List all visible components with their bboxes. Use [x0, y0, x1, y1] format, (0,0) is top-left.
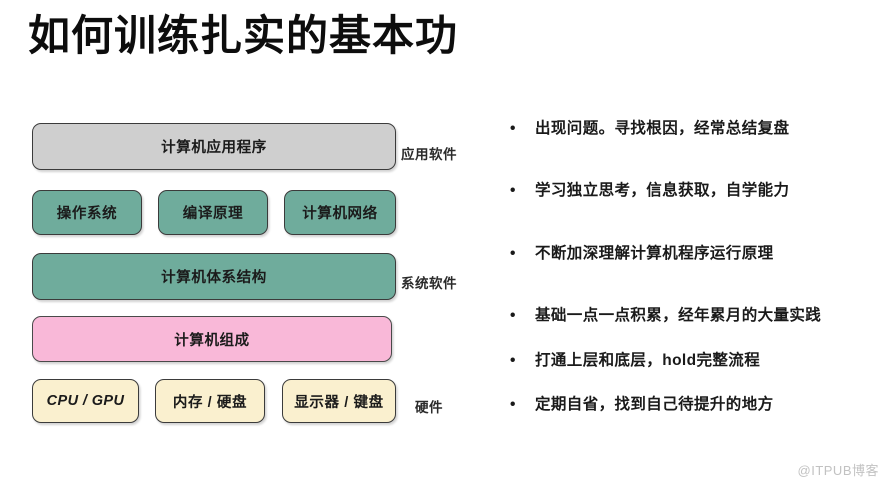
list-item-text: 不断加深理解计算机程序运行原理 [535, 245, 774, 262]
stack-box-memory-disk[interactable]: 内存 / 硬盘 [155, 379, 265, 423]
stack-box-computer-network[interactable]: 计算机网络 [284, 190, 396, 235]
list-item-text: 出现问题。寻找根因，经常总结复盘 [535, 120, 789, 137]
bullet-marker-icon: • [510, 118, 516, 140]
list-item-text: 定期自省，找到自己待提升的地方 [535, 396, 774, 413]
stack-side-label-system-software: 系统软件 [401, 272, 457, 292]
bullet-marker-icon: • [510, 243, 516, 265]
list-item-text: 打通上层和底层，hold完整流程 [535, 352, 760, 369]
watermark: @ITPUB博客 [798, 460, 879, 479]
list-item: • 不断加深理解计算机程序运行原理 [505, 243, 877, 265]
stack-box-computer-composition[interactable]: 计算机组成 [32, 316, 392, 362]
bullet-marker-icon: • [510, 180, 516, 202]
list-item: • 打通上层和底层，hold完整流程 [505, 350, 877, 372]
stack-box-computer-architecture[interactable]: 计算机体系结构 [32, 253, 396, 300]
list-item: • 出现问题。寻找根因，经常总结复盘 [505, 118, 877, 140]
stack-side-label-hardware: 硬件 [415, 396, 443, 416]
list-item: • 学习独立思考，信息获取，自学能力 [505, 180, 877, 202]
stack-box-application-program[interactable]: 计算机应用程序 [32, 123, 396, 170]
bullet-marker-icon: • [510, 350, 516, 372]
list-item-text: 学习独立思考，信息获取，自学能力 [535, 182, 789, 199]
bullet-marker-icon: • [510, 305, 516, 327]
stack-side-label-application-software: 应用软件 [401, 143, 457, 163]
slide-canvas: 如何训练扎实的基本功 计算机应用程序 应用软件 操作系统 编译原理 计算机网络 … [0, 0, 889, 485]
list-item: • 基础一点一点积累，经年累月的大量实践 [505, 305, 865, 327]
stack-box-monitor-keyboard[interactable]: 显示器 / 键盘 [282, 379, 396, 423]
computer-system-stack-diagram: 计算机应用程序 应用软件 操作系统 编译原理 计算机网络 计算机体系结构 系统软… [0, 0, 505, 485]
key-points-list: • 出现问题。寻找根因，经常总结复盘 • 学习独立思考，信息获取，自学能力 • … [505, 118, 877, 417]
stack-box-cpu-gpu[interactable]: CPU / GPU [32, 379, 139, 423]
stack-box-operating-system[interactable]: 操作系统 [32, 190, 142, 235]
stack-box-compiler-principles[interactable]: 编译原理 [158, 190, 268, 235]
bullet-marker-icon: • [510, 394, 516, 416]
list-item-text: 基础一点一点积累，经年累月的大量实践 [535, 307, 821, 324]
list-item: • 定期自省，找到自己待提升的地方 [505, 394, 877, 416]
